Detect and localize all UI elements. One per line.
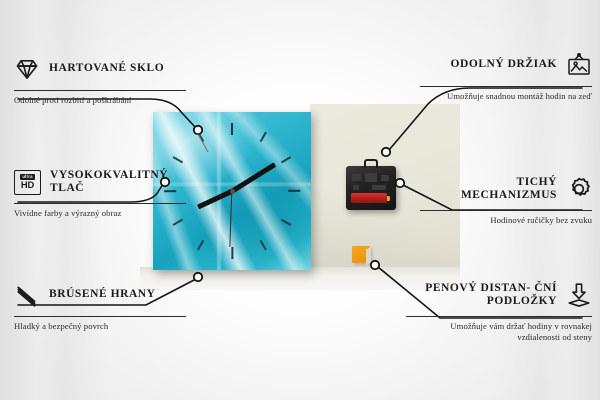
divider (420, 210, 592, 211)
feature-header: PENOVÝ DISTAN- ČNÍ PODLOŽKY (406, 278, 592, 312)
hd-label: HD (21, 180, 34, 189)
feature-title: ODOLNÝ DRŽIAK (420, 58, 557, 72)
minute-hand (231, 162, 276, 193)
diagonal-lines-icon (14, 282, 40, 308)
gear-icon (566, 176, 592, 202)
foam-spacer-pad (352, 246, 370, 263)
product-photo (140, 104, 460, 290)
feature-description: Odolné proti rozbití a poškrábání (14, 95, 186, 106)
feature-header: HARTOVANÉ SKLO (14, 52, 186, 86)
mechanism-detail (352, 174, 361, 181)
second-hand (229, 191, 232, 247)
down-arrow-layers-icon (566, 282, 592, 308)
diamond-icon (14, 56, 40, 82)
feature-high-quality-print: ultra HD VYSOKOKVALITNÝ TLAČ Vivídne far… (14, 165, 186, 219)
feature-tempered-glass: HARTOVANÉ SKLO Odolné proti rozbití a po… (14, 52, 186, 106)
mechanism-detail (381, 175, 389, 181)
infographic-stage: HARTOVANÉ SKLO Odolné proti rozbití a po… (0, 0, 600, 400)
mechanism-detail (353, 185, 359, 190)
mechanism-detail (365, 173, 377, 182)
feature-header: BRÚSENÉ HRANY (14, 278, 186, 312)
divider (406, 316, 592, 317)
feature-durable-mount: ODOLNÝ DRŽIAK Umožňuje snadnou montáž ho… (420, 48, 592, 102)
feature-foam-spacers: PENOVÝ DISTAN- ČNÍ PODLOŽKY Umožňuje vám… (406, 278, 592, 343)
feature-description: Umožňuje vám držať hodiny v rovnakej vzd… (406, 321, 592, 343)
clock-mechanism (346, 166, 396, 210)
divider (14, 90, 186, 91)
picture-frame-icon (566, 52, 592, 78)
hand-center-cap (230, 189, 235, 194)
feature-title: TICHÝ MECHANIZMUS (420, 176, 557, 203)
divider (14, 203, 186, 204)
ultra-hd-icon: ultra HD (14, 170, 41, 195)
feature-title: BRÚSENÉ HRANY (49, 288, 186, 302)
feature-header: ultra HD VYSOKOKVALITNÝ TLAČ (14, 165, 186, 199)
divider (14, 316, 186, 317)
feature-title: PENOVÝ DISTAN- ČNÍ PODLOŽKY (406, 282, 557, 309)
feature-title: HARTOVANÉ SKLO (49, 62, 186, 76)
hour-hand (197, 189, 234, 210)
mechanism-hanger-icon (364, 159, 378, 168)
feature-description: Vivídne farby a výrazný obraz (14, 208, 186, 219)
feature-title: VYSOKOKVALITNÝ TLAČ (50, 169, 186, 196)
aa-battery (351, 193, 387, 203)
divider (420, 86, 592, 87)
feature-description: Hodinové ručičky bez zvuku (420, 215, 592, 226)
feature-header: TICHÝ MECHANIZMUS (420, 172, 592, 206)
mechanism-detail (372, 185, 386, 190)
feature-header: ODOLNÝ DRŽIAK (420, 48, 592, 82)
feature-description: Hladký a bezpečný povrch (14, 321, 186, 332)
feature-description: Umožňuje snadnou montáž hodin na zeď (420, 91, 592, 102)
feature-polished-edges: BRÚSENÉ HRANY Hladký a bezpečný povrch (14, 278, 186, 332)
feature-silent-mechanism: TICHÝ MECHANIZMUS Hodinové ručičky bez z… (420, 172, 592, 226)
